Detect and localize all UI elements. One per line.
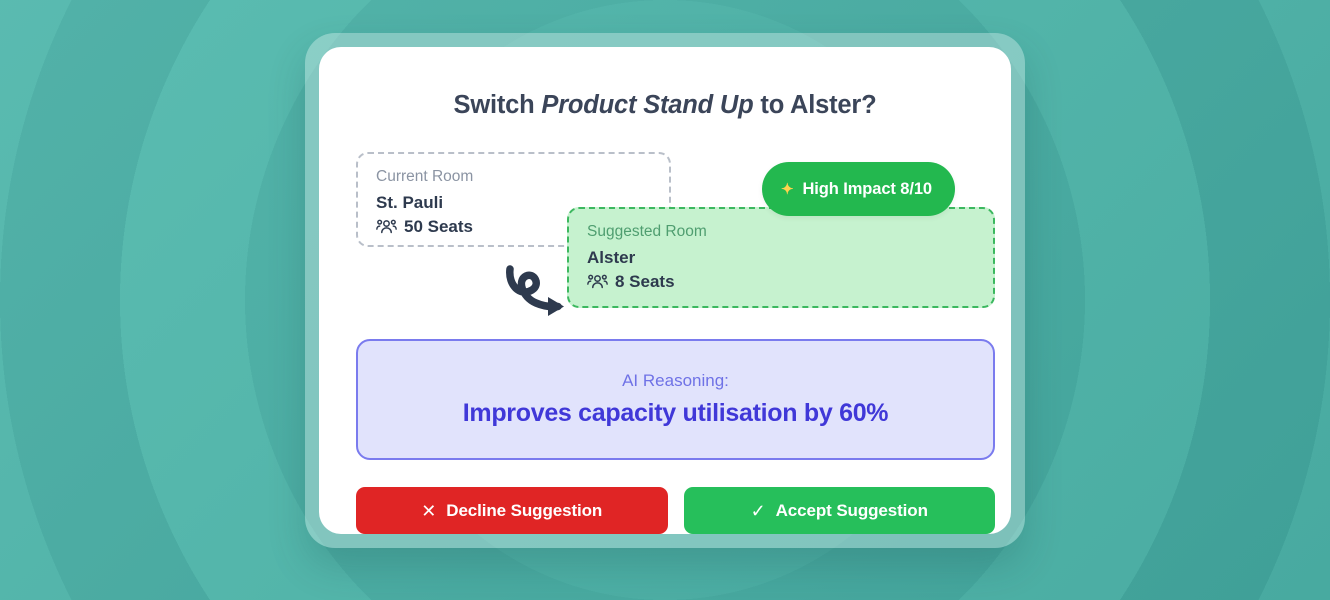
current-room-seats-text: 50 Seats: [404, 216, 473, 237]
sparkles-icon: ✦: [781, 182, 793, 197]
dialog-actions: ✕ Decline Suggestion ✓ Accept Suggestion: [356, 487, 995, 534]
accept-suggestion-label: Accept Suggestion: [776, 501, 928, 521]
dialog-title: Switch Product Stand Up to Alster?: [319, 91, 1011, 120]
app-background: Switch Product Stand Up to Alster? Curre…: [0, 0, 1330, 600]
curly-arrow-icon: [498, 259, 578, 321]
check-icon: ✓: [751, 502, 766, 520]
dialog-title-meeting-name: Product Stand Up: [541, 91, 753, 119]
ai-reasoning-text: Improves capacity utilisation by 60%: [463, 398, 888, 428]
rooms-comparison: Current Room St. Pauli: [319, 47, 1011, 534]
suggested-room-seats-text: 8 Seats: [615, 271, 675, 292]
ai-reasoning-panel: AI Reasoning: Improves capacity utilisat…: [356, 339, 995, 460]
impact-badge: ✦ High Impact 8/10: [762, 162, 955, 216]
decline-suggestion-label: Decline Suggestion: [446, 501, 602, 521]
suggested-room-card[interactable]: Suggested Room Alster: [567, 207, 995, 308]
suggested-room-seats: 8 Seats: [587, 271, 975, 292]
ai-reasoning-label: AI Reasoning:: [622, 371, 729, 391]
dialog-outer-ring: Switch Product Stand Up to Alster? Curre…: [305, 33, 1025, 548]
suggested-room-name: Alster: [587, 247, 975, 268]
users-group-icon: [587, 272, 608, 290]
accept-suggestion-button[interactable]: ✓ Accept Suggestion: [684, 487, 996, 534]
impact-badge-label: High Impact 8/10: [802, 180, 932, 199]
suggestion-dialog: Switch Product Stand Up to Alster? Curre…: [319, 47, 1011, 534]
suggested-room-label: Suggested Room: [587, 223, 975, 242]
users-group-icon: [376, 217, 397, 235]
dialog-title-prefix: Switch: [454, 91, 542, 119]
current-room-label: Current Room: [376, 168, 651, 187]
dialog-title-suffix: to Alster?: [754, 91, 877, 119]
decline-suggestion-button[interactable]: ✕ Decline Suggestion: [356, 487, 668, 534]
close-icon: ✕: [421, 502, 436, 520]
